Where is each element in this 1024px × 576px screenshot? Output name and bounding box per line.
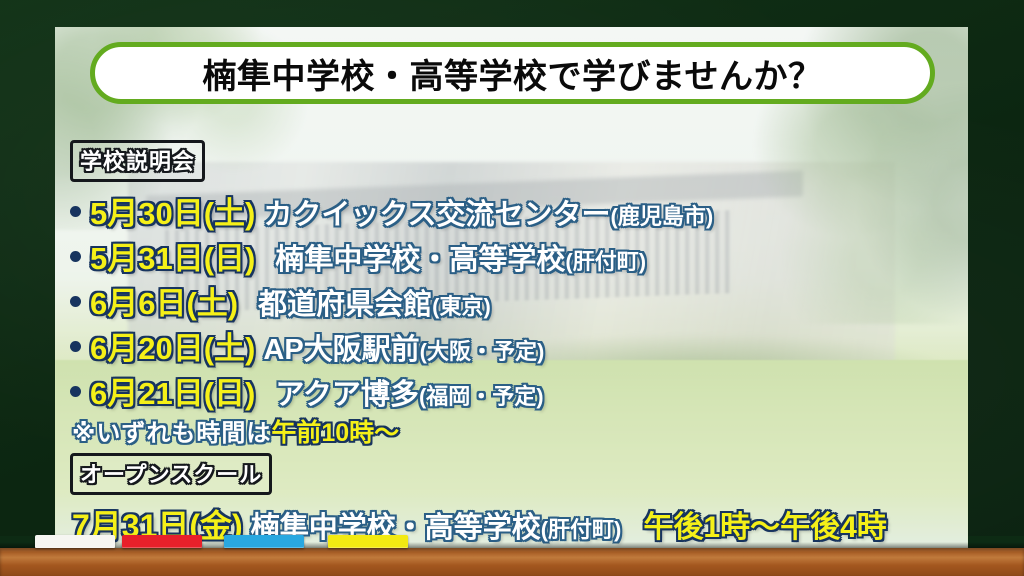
open-school-row: 7月31日(金) 楠隼中学校・高等学校 (肝付町) 午後1時〜午後4時 [70,501,970,547]
page-title: 楠隼中学校・高等学校で学びませんか？ [203,49,823,98]
event-date: 5月30日(土) [90,188,255,233]
event-location-note: (鹿児島市) [611,199,714,231]
section-heading-label: 学校説明会 [80,149,195,174]
chalk-blue-icon [224,535,304,548]
bullet-dot-icon [70,341,81,352]
section-heading-open-school: オープンスクール [70,453,272,495]
chalk-yellow-icon [328,535,408,548]
event-location-note: (福岡・予定) [419,379,544,411]
event-date: 6月21日(日) [90,368,255,413]
event-time: 午後1時〜午後4時 [643,502,886,546]
event-venue: AP大阪駅前 [263,326,419,368]
section-heading-briefing: 学校説明会 [70,140,205,182]
bullet-dot-icon [70,206,81,217]
wooden-ledge [0,548,1024,576]
event-date: 5月31日(日) [90,233,255,278]
event-venue: 都道府県会館 [258,281,432,323]
slide-stage: 楠隼中学校・高等学校で学びませんか？ 学校説明会 5月30日(土) カクイックス… [0,0,1024,576]
bullet-dot-icon [70,386,81,397]
list-item: 5月30日(土) カクイックス交流センター (鹿児島市) [70,188,970,233]
event-venue: カクイックス交流センター [263,191,610,233]
chalk-white-icon [35,535,115,548]
event-location-note: (肝付町) [541,512,622,544]
event-location-note: (肝付町) [565,244,646,276]
schedule-note-time: 午前10時〜 [271,413,399,449]
list-item: 5月31日(日) 楠隼中学校・高等学校 (肝付町) [70,233,970,278]
bullet-dot-icon [70,296,81,307]
list-item: 6月21日(日) アクア博多 (福岡・予定) [70,368,970,413]
content-area: 学校説明会 5月30日(土) カクイックス交流センター (鹿児島市) 5月31日… [70,140,970,547]
bullet-dot-icon [70,251,81,262]
chalk-red-icon [122,535,202,548]
event-venue: 楠隼中学校・高等学校 [275,236,565,278]
schedule-note-text: ※いずれも時間は [72,413,271,448]
list-item: 6月6日(土) 都道府県会館 (東京) [70,278,970,323]
list-item: 6月20日(土) AP大阪駅前 (大阪・予定) [70,323,970,368]
event-date: 6月20日(土) [90,323,255,368]
title-banner: 楠隼中学校・高等学校で学びませんか？ [90,42,935,104]
event-venue: アクア博多 [275,371,419,413]
schedule-note: ※いずれも時間は 午前10時〜 [70,413,970,449]
event-location-note: (東京) [432,289,491,321]
event-date: 6月6日(土) [90,278,238,323]
section-heading-label: オープンスクール [80,462,262,487]
event-location-note: (大阪・予定) [420,334,545,366]
